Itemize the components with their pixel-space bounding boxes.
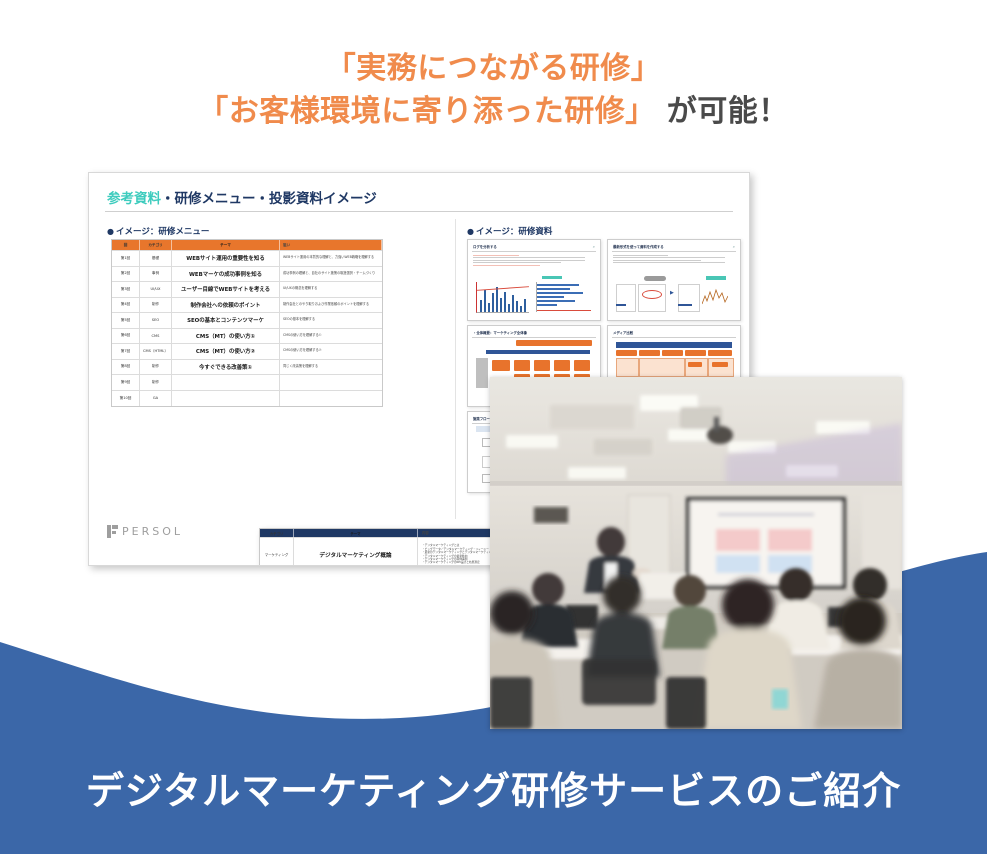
cell-theme: 制作会社への依頼のポイント <box>172 298 280 313</box>
table-row: 第2回事例WEBマーケの成功事例を知る成功事例の理解と、自社のサイト施策の取捨選… <box>112 267 382 283</box>
cell-session: 第6回 <box>112 329 140 344</box>
column-divider <box>455 219 456 519</box>
training-seminar-photo <box>490 377 902 729</box>
thumb-rule <box>612 337 736 338</box>
table-header-row: 回 カテゴリ テーマ 狙い <box>112 240 382 251</box>
cell-goal: UI/UXの概念を理解する <box>280 282 382 297</box>
mini-panel <box>616 284 636 312</box>
thumb-analysis-1[interactable]: ログを分析する ⌕ <box>467 239 601 321</box>
persol-logo: PERSOL <box>107 525 183 538</box>
magnifier-icon: ⌕ <box>733 244 735 249</box>
training-menu-table: 回 カテゴリ テーマ 狙い 第1回基礎WEBサイト運用の重要性を知るWEBサイト… <box>111 239 383 407</box>
th-theme: テーマ <box>294 529 418 537</box>
thumb-title: メディア比較 <box>613 330 633 335</box>
cell-session: 第1回 <box>112 251 140 266</box>
cell-session: 第7回 <box>112 344 140 359</box>
cell-goal: 成功事例の理解と、自社のサイト施策の取捨選択・チームづくり <box>280 267 382 282</box>
cell-category: 制作 <box>140 375 172 390</box>
slide-title-divider <box>105 211 733 212</box>
cell-category: 制作 <box>140 360 172 375</box>
table-row: 第6回CMSCMS（MT）の使い方①CMSの使い方を理解する① <box>112 329 382 345</box>
cell-category: 制作 <box>140 298 172 313</box>
cell-category: GA <box>140 391 172 407</box>
slide-title-teal: 参考資料 <box>107 191 161 207</box>
slide-title: 参考資料・研修メニュー・投影資料イメージ <box>107 187 377 207</box>
th-goal: 狙い <box>280 240 382 250</box>
persol-wordmark: PERSOL <box>122 525 183 538</box>
cell-theme: WEBサイト運用の重要性を知る <box>172 251 280 266</box>
mini-panel <box>678 284 700 312</box>
section-heading-menu: イメージ：研修メニュー <box>107 225 209 237</box>
thumb-rule <box>612 251 736 252</box>
cell-theme: ユーザー目線でWEBサイトを考える <box>172 282 280 297</box>
cell-goal: CMSの使い方を理解する② <box>280 344 382 359</box>
cell-session: 第9回 <box>112 375 140 390</box>
thumb-text-lines <box>473 255 595 267</box>
mini-bar-chart <box>476 282 529 313</box>
thumb-title: ・全体概要：マーケティング全体像 <box>473 330 527 335</box>
cell-session: 第5回 <box>112 313 140 328</box>
table-row: 第8回制作今すぐできる改善策①同じく改善策を理解する <box>112 360 382 376</box>
headline-line-1-accent: 「実務につながる研修」 <box>326 51 662 86</box>
cell-goal <box>280 391 382 407</box>
headline-line-2-tail: が可能！ <box>656 94 789 129</box>
cell-category: CMS <box>140 329 172 344</box>
cell-goal: SEOの基本を理解する <box>280 313 382 328</box>
thumb-text-lines <box>613 255 735 265</box>
cell-theme: 今すぐできる改善策① <box>172 360 280 375</box>
cell-goal: CMSの使い方を理解する① <box>280 329 382 344</box>
th-category: カテゴリ <box>140 240 172 250</box>
thumb-rule <box>472 251 596 252</box>
mini-sparkline <box>702 284 728 310</box>
table-row: 第7回CMS（HTML）CMS（MT）の使い方②CMSの使い方を理解する② <box>112 344 382 360</box>
headline-line-2-accent: 「お客様環境に寄り添った研修」 <box>198 94 656 129</box>
cell-category: UI/UX <box>140 282 172 297</box>
cell-session: 第8回 <box>112 360 140 375</box>
table-row: 第3回UI/UXユーザー目線でWEBサイトを考えるUI/UXの概念を理解する <box>112 282 382 298</box>
cell-category: 基礎 <box>140 251 172 266</box>
th-session: 回 <box>112 240 140 250</box>
cell-theme: WEBマーケの成功事例を知る <box>172 267 280 282</box>
cell-theme <box>172 375 280 390</box>
headline-line-2: 「お客様環境に寄り添った研修」 が可能！ <box>0 91 987 134</box>
thumb-title: ログを分析する <box>473 244 497 249</box>
thumb-title: 最新形式を使って資料を作成する <box>613 244 664 249</box>
cell-theme: CMS（MT）の使い方① <box>172 329 280 344</box>
cell-session: 第2回 <box>112 267 140 282</box>
th-theme: テーマ <box>172 240 280 250</box>
table-row: 第5回SEOSEOの基本とコンテンツマーケSEOの基本を理解する <box>112 313 382 329</box>
cell-session: 第4回 <box>112 298 140 313</box>
headline-line-1: 「実務につながる研修」 <box>0 48 987 91</box>
cell-goal: 同じく改善策を理解する <box>280 360 382 375</box>
page-headline: 「実務につながる研修」 「お客様環境に寄り添った研修」 が可能！ <box>0 48 987 133</box>
bottom-banner-title: デジタルマーケティング研修サービスのご紹介 <box>0 760 987 815</box>
th-category: カテゴリ <box>260 529 294 537</box>
magnifier-icon: ⌕ <box>593 244 595 249</box>
table-row: 第4回制作制作会社への依頼のポイント制作会社とのやり取りおよび作業依頼のポイント… <box>112 298 382 314</box>
section-heading-materials: イメージ：研修資料 <box>467 225 552 237</box>
cell-goal <box>280 375 382 390</box>
cell-category: マーケティング <box>260 538 294 566</box>
thumb-analysis-2[interactable]: 最新形式を使って資料を作成する ⌕ ▶ <box>607 239 741 321</box>
mini-hbar-chart <box>536 282 593 312</box>
cell-goal: 制作会社とのやり取りおよび作業依頼のポイントを理解する <box>280 298 382 313</box>
cell-theme: CMS（MT）の使い方② <box>172 344 280 359</box>
slide-canvas: 「実務につながる研修」 「お客様環境に寄り添った研修」 が可能！ デジタルマーケ… <box>0 0 987 854</box>
slide-title-navy: ・研修メニュー・投影資料イメージ <box>161 191 377 207</box>
cell-goal: WEBサイト運用の本質的な理解と、力強いWEB戦略を理解する <box>280 251 382 266</box>
cell-theme: デジタルマーケティング概論 <box>294 538 418 566</box>
cell-category: CMS（HTML） <box>140 344 172 359</box>
cell-category: 事例 <box>140 267 172 282</box>
persol-mark-icon <box>107 525 118 538</box>
thumb-rule <box>472 337 596 338</box>
table-row: 第1回基礎WEBサイト運用の重要性を知るWEBサイト運用の本質的な理解と、力強い… <box>112 251 382 267</box>
cell-theme: SEOの基本とコンテンツマーケ <box>172 313 280 328</box>
cell-category: SEO <box>140 313 172 328</box>
table-row: 第9回制作 <box>112 375 382 391</box>
table-row: 第10回GA <box>112 391 382 407</box>
arrow-icon: ▶ <box>670 290 674 296</box>
cell-theme <box>172 391 280 407</box>
cell-session: 第10回 <box>112 391 140 407</box>
cell-session: 第3回 <box>112 282 140 297</box>
